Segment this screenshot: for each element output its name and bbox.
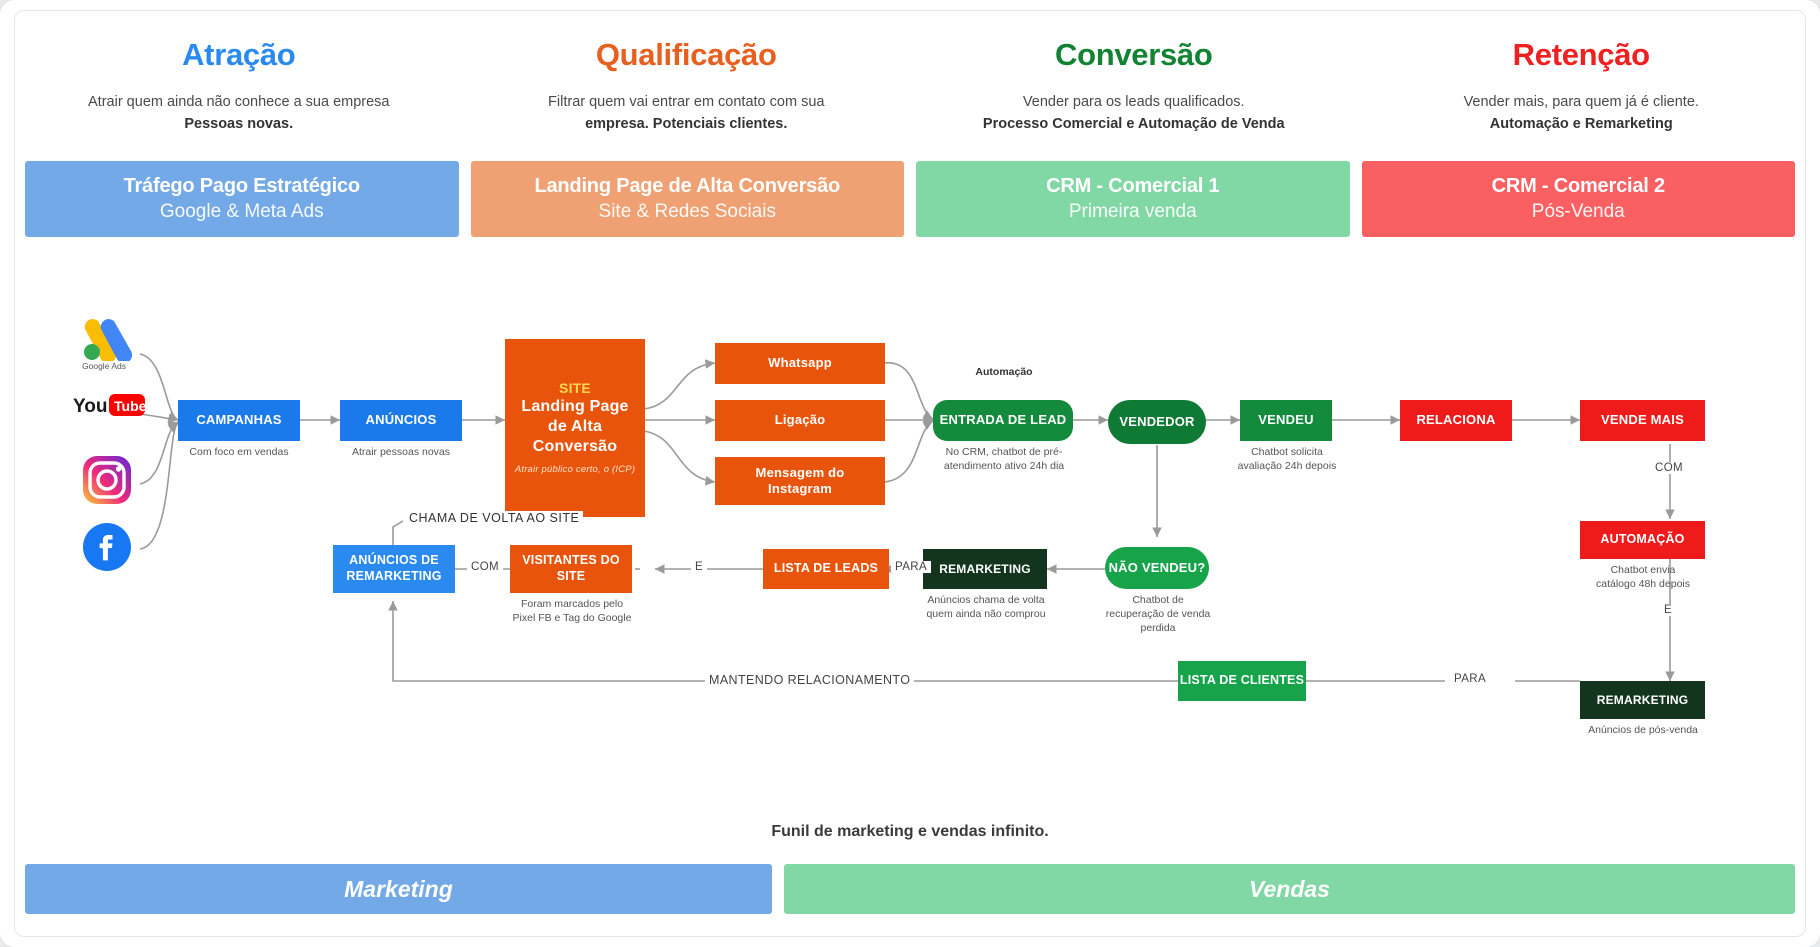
- node-mensagem-instagram[interactable]: Mensagem do Instagram: [715, 457, 885, 505]
- node-label: Whatsapp: [768, 355, 832, 371]
- stage-title-atracao: Atração: [15, 37, 463, 73]
- node-vendeu[interactable]: VENDEU: [1240, 400, 1332, 441]
- node-lista-de-clientes[interactable]: LISTA DE CLIENTES: [1178, 661, 1306, 701]
- edge-label-para-mid: PARA: [891, 561, 931, 573]
- node-campanhas[interactable]: CAMPANHAS: [178, 400, 300, 441]
- caption-campanhas: Com foco em vendas: [168, 445, 310, 459]
- stage-desc-line1: Filtrar quem vai entrar em contato com s…: [548, 94, 824, 110]
- node-label: REMARKETING: [939, 562, 1031, 577]
- node-entrada-de-lead[interactable]: ENTRADA DE LEAD: [933, 400, 1073, 441]
- banner-landing-page: Landing Page de Alta Conversão Site & Re…: [471, 161, 905, 237]
- caption-automacao: Chatbot envia catálogo 48h depois: [1563, 563, 1723, 591]
- edge-label-chama-de-volta: CHAMA DE VOLTA AO SITE: [405, 511, 583, 525]
- node-label: VENDE MAIS: [1601, 412, 1684, 428]
- node-label: Ligação: [775, 412, 826, 428]
- caption-vendeu: Chatbot solicita avaliação 24h depois: [1218, 445, 1356, 473]
- stage-desc-bold: empresa. Potenciais clientes.: [585, 116, 787, 132]
- node-remarketing-posvenda[interactable]: REMARKETING: [1580, 681, 1705, 719]
- node-site[interactable]: SITE Landing Page de Alta Conversão Atra…: [505, 339, 645, 517]
- banner-title: CRM - Comercial 2: [1492, 175, 1665, 198]
- node-site-line2: Landing Page: [521, 397, 628, 417]
- footer-vendas-bar: Vendas: [784, 864, 1795, 914]
- node-anuncios[interactable]: ANÚNCIOS: [340, 400, 462, 441]
- node-label: ENTRADA DE LEAD: [940, 412, 1067, 428]
- stage-desc-bold: Pessoas novas.: [184, 116, 293, 132]
- node-label: VENDEU: [1258, 412, 1313, 428]
- caption-entrada-de-lead: No CRM, chatbot de pré- atendimento ativ…: [923, 445, 1085, 473]
- node-label-line2: REMARKETING: [346, 569, 441, 585]
- node-label: RELACIONA: [1416, 412, 1495, 428]
- stage-qualificacao: Qualificação Filtrar quem vai entrar em …: [463, 11, 911, 161]
- node-label-line1: VISITANTES DO: [522, 553, 620, 569]
- svg-text:You: You: [73, 396, 107, 417]
- banner-title: Landing Page de Alta Conversão: [534, 175, 840, 198]
- node-label: VENDEDOR: [1119, 414, 1194, 430]
- caption-visitantes: Foram marcados pelo Pixel FB e Tag do Go…: [493, 597, 651, 625]
- flow-canvas: Google Ads You Tube: [15, 249, 1805, 819]
- stage-title-retencao: Retenção: [1358, 37, 1806, 73]
- edge-label-e-mid: E: [691, 561, 707, 573]
- banner-trafego-pago: Tráfego Pago Estratégico Google & Meta A…: [25, 161, 459, 237]
- node-label: LISTA DE CLIENTES: [1180, 673, 1304, 689]
- flow-connectors: [15, 249, 1805, 819]
- node-nao-vendeu[interactable]: NÃO VENDEU?: [1105, 547, 1209, 589]
- footer-bars: Marketing Vendas: [25, 864, 1795, 914]
- caption-nao-vendeu: Chatbot de recuperação de venda perdida: [1095, 593, 1221, 636]
- node-relaciona[interactable]: RELACIONA: [1400, 400, 1512, 441]
- node-label-line1: Mensagem do: [756, 465, 845, 481]
- node-label: LISTA DE LEADS: [774, 561, 878, 577]
- stage-desc-line1: Atrair quem ainda não conhece a sua empr…: [88, 94, 389, 110]
- stage-retencao: Retenção Vender mais, para quem já é cli…: [1358, 11, 1806, 161]
- node-vende-mais[interactable]: VENDE MAIS: [1580, 400, 1705, 441]
- footer-marketing-bar: Marketing: [25, 864, 772, 914]
- caption-anuncios: Atrair pessoas novas: [330, 445, 472, 459]
- stage-conversao: Conversão Vender para os leads qualifica…: [910, 11, 1358, 161]
- stage-banners: Tráfego Pago Estratégico Google & Meta A…: [25, 161, 1795, 237]
- svg-text:Tube: Tube: [114, 398, 145, 414]
- label-automacao: Automação: [933, 366, 1075, 378]
- stage-desc-bold: Automação e Remarketing: [1490, 116, 1673, 132]
- stage-desc-qualificacao: Filtrar quem vai entrar em contato com s…: [463, 91, 911, 136]
- node-ligacao[interactable]: Ligação: [715, 400, 885, 441]
- funnel-diagram-page: Atração Atrair quem ainda não conhece a …: [0, 0, 1820, 947]
- node-label-line2: SITE: [557, 569, 586, 585]
- stage-desc-retencao: Vender mais, para quem já é cliente. Aut…: [1358, 91, 1806, 136]
- caption-remarketing-leads: Anúncios chama de volta quem ainda não c…: [905, 593, 1067, 621]
- edge-label-mantendo-relacionamento: MANTENDO RELACIONAMENTO: [705, 673, 914, 687]
- edge-label-com-left: COM: [467, 561, 503, 573]
- node-remarketing-leads[interactable]: REMARKETING: [923, 549, 1047, 589]
- banner-crm-comercial-2: CRM - Comercial 2 Pós-Venda: [1362, 161, 1796, 237]
- node-vendedor[interactable]: VENDEDOR: [1108, 400, 1206, 444]
- node-whatsapp[interactable]: Whatsapp: [715, 343, 885, 384]
- caption-remarketing-posvenda: Anúncios de pós-venda: [1563, 723, 1723, 737]
- node-label-line2: Instagram: [768, 481, 832, 497]
- node-site-title: SITE: [559, 380, 591, 398]
- edge-label-com-right: COM: [1651, 462, 1687, 474]
- stage-headers: Atração Atrair quem ainda não conhece a …: [15, 11, 1805, 161]
- banner-subtitle: Site & Redes Sociais: [599, 201, 776, 223]
- banner-title: CRM - Comercial 1: [1046, 175, 1219, 198]
- node-label: NÃO VENDEU?: [1109, 560, 1206, 576]
- stage-desc-conversao: Vender para os leads qualificados. Proce…: [910, 91, 1358, 136]
- node-label: AUTOMAÇÃO: [1600, 532, 1684, 548]
- diagram-frame: Atração Atrair quem ainda não conhece a …: [14, 10, 1806, 937]
- stage-atracao: Atração Atrair quem ainda não conhece a …: [15, 11, 463, 161]
- banner-subtitle: Google & Meta Ads: [160, 201, 324, 223]
- node-label: REMARKETING: [1597, 693, 1689, 708]
- stage-desc-line1: Vender para os leads qualificados.: [1023, 94, 1245, 110]
- node-visitantes-do-site[interactable]: VISITANTES DO SITE: [510, 545, 632, 593]
- stage-title-qualificacao: Qualificação: [463, 37, 911, 73]
- stage-desc-atracao: Atrair quem ainda não conhece a sua empr…: [15, 91, 463, 136]
- stage-desc-bold: Processo Comercial e Automação de Venda: [983, 116, 1285, 132]
- node-site-line3: de Alta Conversão: [505, 417, 645, 457]
- banner-crm-comercial-1: CRM - Comercial 1 Primeira venda: [916, 161, 1350, 237]
- node-automacao[interactable]: AUTOMAÇÃO: [1580, 521, 1705, 559]
- node-label: ANÚNCIOS: [366, 412, 437, 428]
- banner-title: Tráfego Pago Estratégico: [124, 175, 360, 198]
- node-lista-de-leads[interactable]: LISTA DE LEADS: [763, 549, 889, 589]
- node-site-caption: Atrair público certo, o (ICP): [515, 464, 635, 476]
- node-label: CAMPANHAS: [196, 412, 281, 428]
- google-ads-caption: Google Ads: [64, 361, 144, 371]
- node-anuncios-de-remarketing[interactable]: ANÚNCIOS DE REMARKETING: [333, 545, 455, 593]
- edge-label-para-bottom: PARA: [1450, 673, 1490, 685]
- stage-desc-line1: Vender mais, para quem já é cliente.: [1464, 94, 1699, 110]
- node-label-line1: ANÚNCIOS DE: [349, 553, 439, 569]
- funnel-note: Funil de marketing e vendas infinito.: [15, 823, 1805, 841]
- banner-subtitle: Pós-Venda: [1532, 201, 1625, 223]
- stage-title-conversao: Conversão: [910, 37, 1358, 73]
- banner-subtitle: Primeira venda: [1069, 201, 1197, 223]
- edge-label-e-right: E: [1660, 604, 1676, 616]
